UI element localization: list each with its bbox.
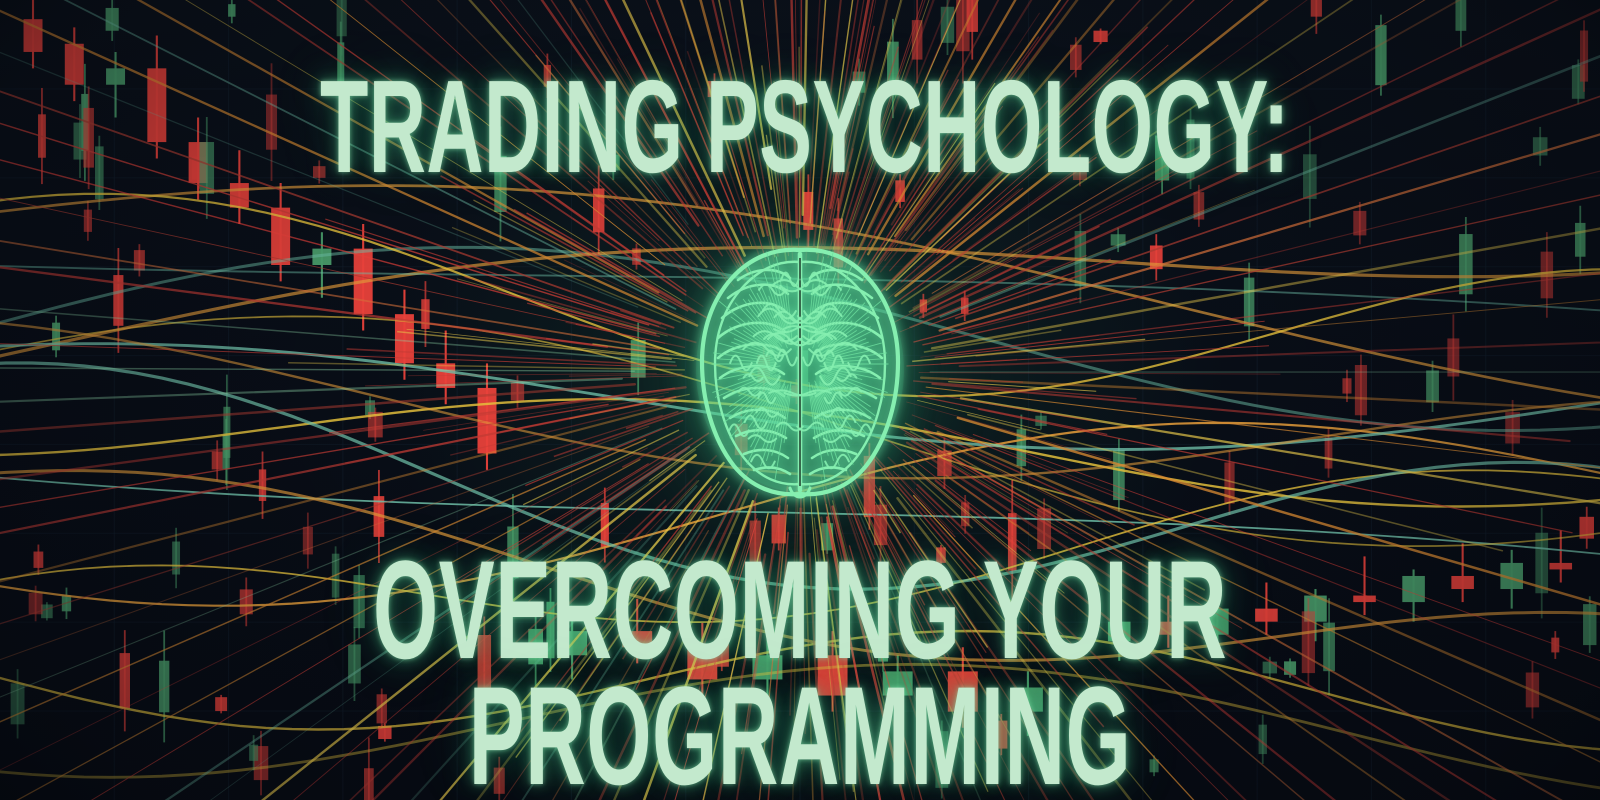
page-title: TRADING PSYCHOLOGY: — [320, 66, 1280, 187]
subtitle-line-2: PROGRAMMING — [320, 672, 1280, 800]
brain-illustration-icon — [678, 238, 922, 506]
trading-psychology-banner: TRADING PSYCHOLOGY: OVERCOMING YOUR PROG… — [0, 0, 1600, 800]
subtitle-line-1: OVERCOMING YOUR — [320, 546, 1280, 675]
